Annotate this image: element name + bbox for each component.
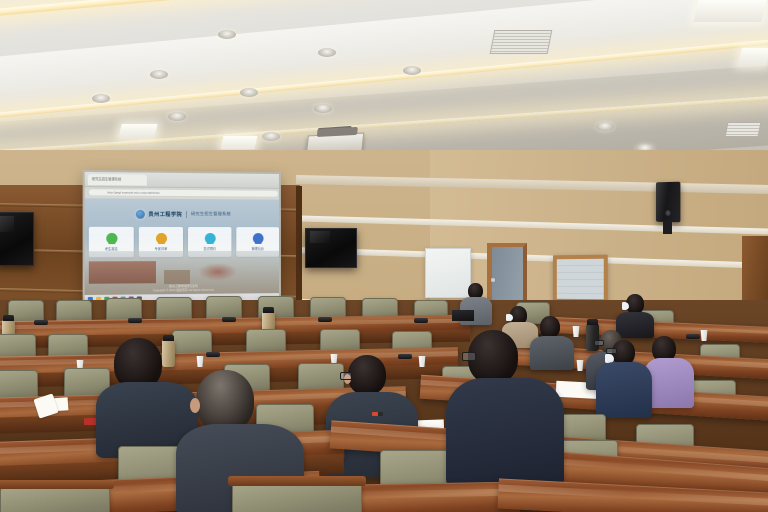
site-header: 贵州工程学院 研究生招生管理系统: [85, 206, 279, 221]
user-green-icon: [106, 233, 117, 244]
torso: [596, 362, 652, 418]
downlight: [596, 122, 614, 131]
chair[interactable]: [156, 297, 192, 321]
downlight: [240, 88, 258, 97]
campus-seal-icon: [198, 263, 237, 281]
thermos-flask: [586, 324, 599, 351]
head: [196, 370, 254, 432]
org-name: 贵州工程学院: [148, 210, 182, 217]
browser-tab[interactable]: 研究生招生管理系统: [88, 174, 147, 186]
chair[interactable]: [0, 486, 110, 512]
chair-top-rail: [0, 480, 114, 489]
projected-web-app: 贵州工程学院 研究生招生管理系统 考生报名 专家评审 复试预约: [85, 198, 279, 296]
downlight: [314, 104, 332, 113]
interior-window: [553, 255, 608, 304]
chair[interactable]: [232, 482, 362, 512]
footer-line-2: Copyright © 2023 版权所有 All Rights Reserve…: [85, 287, 279, 293]
downlight: [318, 48, 336, 57]
browser-url-bar[interactable]: http://yjsgl.example.edu.cn/portal/index: [88, 188, 279, 198]
downlight: [218, 30, 236, 39]
face-mask: [506, 314, 513, 321]
microphone: [34, 320, 48, 325]
jacket-logo: [372, 412, 383, 416]
projection-screen: 研究生招生管理系统 http://yjsgl.example.edu.cn/po…: [83, 170, 281, 306]
system-name: 研究生招生管理系统: [191, 211, 231, 217]
air-vent: [725, 122, 762, 137]
campus-building: [164, 270, 190, 284]
torso: [530, 336, 574, 370]
head: [348, 355, 386, 395]
wall-speaker: [656, 182, 680, 223]
microphone: [206, 352, 220, 357]
laptop: [452, 310, 474, 321]
chair[interactable]: [0, 370, 38, 400]
panel-light: [220, 136, 257, 149]
downlight: [168, 112, 186, 121]
microphone: [686, 334, 700, 339]
window-glass: [557, 259, 604, 300]
university-logo-icon: [135, 209, 144, 218]
campus-building: [89, 261, 156, 284]
user-cyan-icon: [204, 233, 215, 244]
air-vent: [490, 30, 553, 54]
torso: [616, 312, 654, 338]
speaker-mount: [663, 220, 672, 234]
thermos-flask: [162, 340, 175, 367]
glasses-icon: [340, 372, 352, 380]
wall-display-center: [305, 228, 357, 268]
downlight: [262, 132, 280, 141]
downlight: [92, 94, 110, 103]
panel-light: [118, 124, 157, 138]
microphone: [318, 317, 332, 322]
user-orange-icon: [155, 233, 166, 244]
wall-display-left: [0, 212, 34, 266]
conference-room-scene: 研究生招生管理系统 http://yjsgl.example.edu.cn/po…: [0, 0, 768, 512]
glasses-icon: [594, 340, 604, 346]
door-knob-icon[interactable]: [491, 278, 495, 282]
head: [540, 316, 560, 338]
microphone: [222, 317, 236, 322]
face-mask: [622, 302, 629, 310]
browser-chrome: 研究生招生管理系统: [85, 172, 279, 189]
panel-light: [738, 48, 768, 66]
panel-light: [693, 0, 766, 22]
site-footer: 贵州工程学院研究生院 Copyright © 2023 版权所有 All Rig…: [85, 283, 279, 293]
campus-photo-banner: 贵州工程学院研究生院 Copyright © 2023 版权所有 All Rig…: [85, 251, 279, 296]
user-blue-icon: [252, 233, 263, 244]
microphone: [414, 318, 428, 323]
side-door[interactable]: [487, 243, 527, 305]
header-divider: [186, 211, 187, 218]
microphone: [128, 318, 142, 323]
torso: [446, 378, 564, 488]
whiteboard: [425, 248, 471, 298]
glasses-icon: [462, 352, 476, 361]
downlight: [403, 66, 421, 75]
chair-top-rail: [228, 476, 366, 486]
downlight: [150, 70, 168, 79]
ear: [190, 398, 200, 413]
microphone: [398, 354, 412, 359]
